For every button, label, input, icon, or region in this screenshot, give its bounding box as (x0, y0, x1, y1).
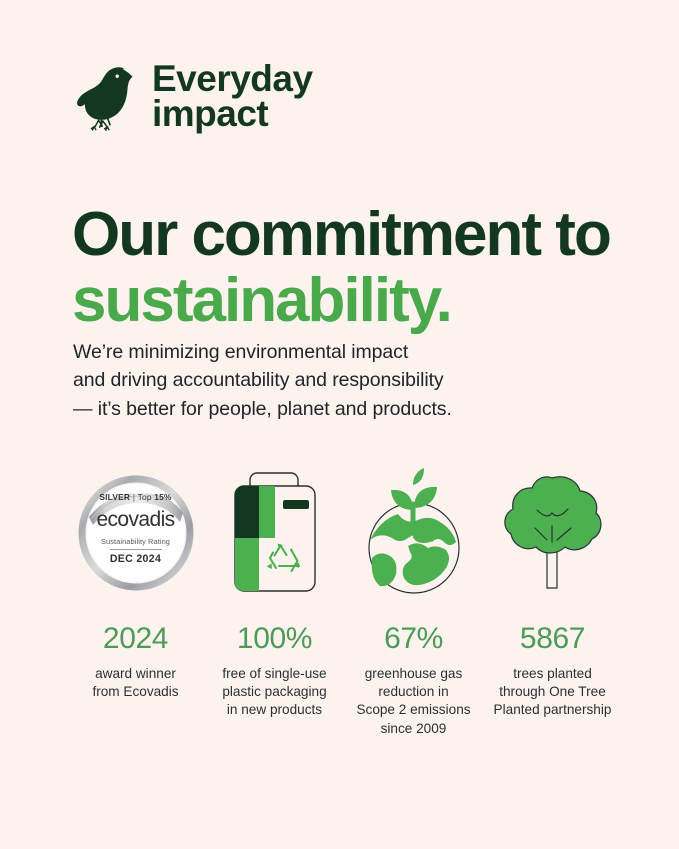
brand-wordmark: Everyday impact (152, 62, 313, 132)
stat-caption: free of single-use plastic packaging in … (222, 665, 326, 720)
stat-caption: award winner from Ecovadis (92, 665, 178, 701)
headline-prefix: to (555, 200, 610, 269)
stat-value: 5867 (520, 624, 585, 654)
ecovadis-wordmark: ecovadis (96, 509, 174, 530)
stat-caption-line: award winner (92, 665, 178, 683)
ecovadis-wordmark-text: ecovadis (96, 508, 174, 531)
stat-value: 67% (384, 624, 443, 654)
stat-caption-line: greenhouse gas (356, 665, 470, 683)
stat-item: SILVER | Top 15% ecovadis Sustainability… (66, 462, 205, 738)
headline-accent: sustainability. (72, 266, 451, 335)
stat-caption-line: through One Tree (494, 683, 612, 701)
page-title: Our commitment to sustainability. (72, 202, 632, 335)
stat-item: 5867 trees planted through One Tree Plan… (483, 462, 622, 738)
brand-name-line2: impact (152, 97, 313, 132)
stat-caption-line: in new products (222, 701, 326, 719)
sustainability-infographic: Everyday impact Our commitment to sustai… (0, 0, 679, 849)
stat-caption-line: plastic packaging (222, 683, 326, 701)
recyclable-packaging-icon (227, 462, 323, 602)
stat-value: 2024 (103, 624, 168, 654)
stat-value: 100% (237, 624, 312, 654)
stat-caption: trees planted through One Tree Planted p… (494, 665, 612, 720)
stat-caption-line: Scope 2 emissions (356, 701, 470, 719)
stat-caption-line: from Ecovadis (92, 683, 178, 701)
stat-item: 67% greenhouse gas reduction in Scope 2 … (344, 462, 483, 738)
ecovadis-medal: SILVER | Top 15% ecovadis Sustainability… (77, 473, 195, 591)
bird-icon (76, 62, 138, 132)
intro-paragraph: We’re minimizing environmental impact an… (73, 338, 543, 424)
badge-date: DEC 2024 (110, 553, 161, 565)
intro-line-1: We’re minimizing environmental impact (73, 338, 543, 367)
brand-logo: Everyday impact (76, 62, 313, 132)
globe-sprout-icon (358, 462, 470, 602)
stat-caption-line: trees planted (494, 665, 612, 683)
tree-icon (501, 462, 605, 602)
ecovadis-badge-icon: SILVER | Top 15% ecovadis Sustainability… (77, 462, 195, 602)
stat-caption-line: reduction in (356, 683, 470, 701)
stat-caption-line: since 2009 (356, 720, 470, 738)
stat-item: 100% free of single-use plastic packagin… (205, 462, 344, 738)
badge-rank-value: 15% (154, 492, 171, 502)
brand-name-line1: Everyday (152, 62, 313, 97)
headline-line-1: Our commitment (72, 200, 540, 269)
badge-rating-label: Sustainability Rating (101, 537, 170, 546)
badge-separator: | (133, 492, 135, 502)
badge-medal: SILVER (99, 492, 130, 502)
intro-line-2: and driving accountability and responsib… (73, 366, 543, 395)
stat-caption: greenhouse gas reduction in Scope 2 emis… (356, 665, 470, 738)
badge-divider (110, 549, 162, 550)
badge-rank-label: Top (138, 492, 155, 502)
stat-caption-line: free of single-use (222, 665, 326, 683)
stats-row: SILVER | Top 15% ecovadis Sustainability… (66, 462, 622, 738)
badge-medal-text: SILVER | Top 15% (99, 492, 171, 502)
intro-line-3: — it’s better for people, planet and pro… (73, 395, 543, 424)
stat-caption-line: Planted partnership (494, 701, 612, 719)
